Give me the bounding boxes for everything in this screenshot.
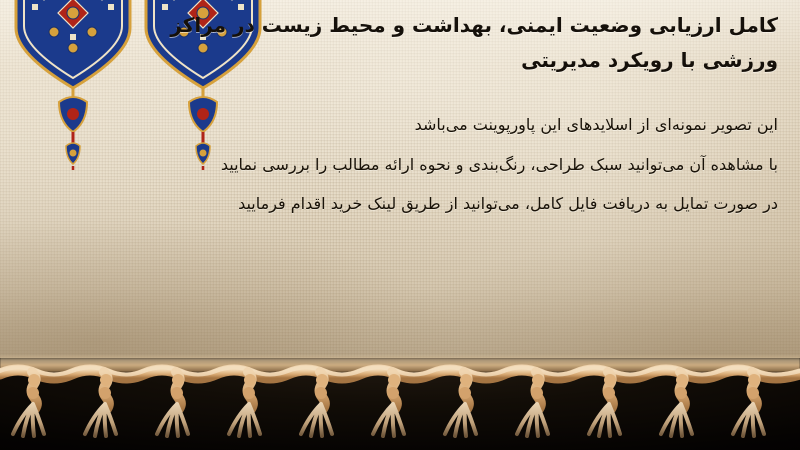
presentation-slide: کامل ارزیابی وضعیت ایمنی، بهداشت و محیط … — [0, 0, 800, 450]
slide-text-layer: کامل ارزیابی وضعیت ایمنی، بهداشت و محیط … — [0, 0, 800, 372]
slide-body: این تصویر نمونه‌ای از اسلایدهای این پاور… — [22, 105, 778, 223]
slide-title: کامل ارزیابی وضعیت ایمنی، بهداشت و محیط … — [22, 8, 778, 78]
body-line-1: این تصویر نمونه‌ای از اسلایدهای این پاور… — [22, 105, 778, 144]
carpet-tassel-fringe-icon — [0, 354, 800, 450]
body-line-3: در صورت تمایل به دریافت فایل کامل، می‌تو… — [22, 184, 778, 223]
title-line-2: ورزشی با رویکرد مدیریتی — [22, 43, 778, 78]
body-line-2: با مشاهده آن می‌توانید سبک طراحی، رنگ‌بن… — [22, 145, 778, 184]
title-line-1: کامل ارزیابی وضعیت ایمنی، بهداشت و محیط … — [22, 8, 778, 43]
